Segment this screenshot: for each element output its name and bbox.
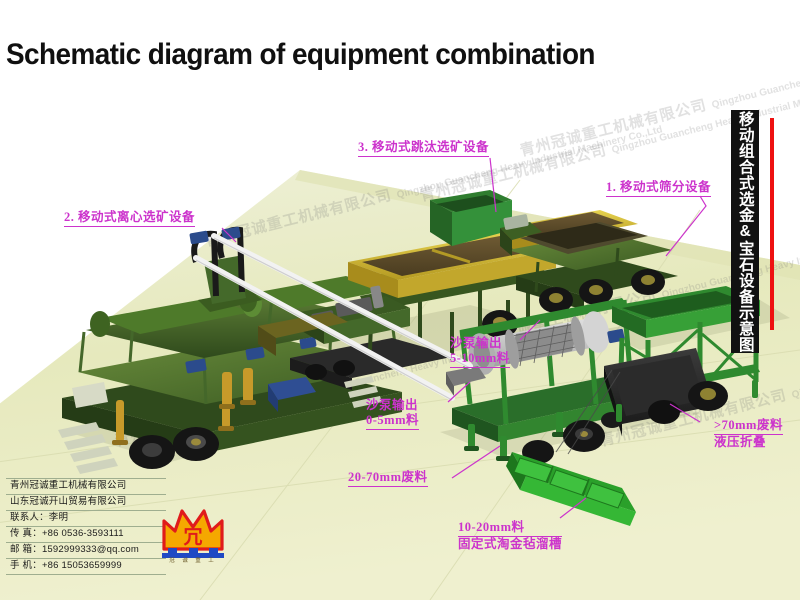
contact-row-person: 联系人：李明 xyxy=(6,511,166,527)
contact-row-company-2: 山东冠诚开山贸易有限公司 xyxy=(6,495,166,511)
callout-sluice-10-20-label: 10-20mm料 固定式淘金毡溜槽 xyxy=(458,520,562,552)
contact-row-company-1: 青州冠诚重工机械有限公司 xyxy=(6,479,166,495)
callout-3-label: 3. 移动式跳汰选矿设备 xyxy=(358,140,489,157)
equipment-fixed-sluice xyxy=(506,452,636,526)
contact-row-fax: 传 真：+86 0536-3593111 xyxy=(6,527,166,543)
contact-row-email: 邮 箱：1592999333@qq.com xyxy=(6,543,166,559)
schematic-canvas: Schematic diagram of equipment combinati… xyxy=(0,0,800,600)
callout-2-label: 2. 移动式离心选矿设备 xyxy=(64,210,195,227)
crown-logo-caption: 冠 诚 重 工 xyxy=(160,556,226,564)
vertical-banner-text: 移动组合式选金&宝石设备示意图 xyxy=(737,111,753,353)
crown-logo-monogram: 冗 xyxy=(183,527,202,548)
callout-sand-pump-5-10-label: 沙泵输出 5-10mm料 xyxy=(450,336,510,368)
contact-row-mobile: 手 机：+86 15053659999 xyxy=(6,559,166,575)
contact-card: 青州冠诚重工机械有限公司 山东冠诚开山贸易有限公司 联系人：李明 传 真：+86… xyxy=(6,478,166,575)
callout-waste-20-70-label: 20-70mm废料 xyxy=(348,470,428,487)
callout-1-label: 1. 移动式筛分设备 xyxy=(606,180,711,197)
callout-sand-pump-0-5-label: 沙泵输出 0-5mm料 xyxy=(366,398,419,430)
vertical-banner: 移动组合式选金&宝石设备示意图 xyxy=(731,110,759,353)
callout-waste-70-plus-label: >70mm废料 液压折叠 xyxy=(714,418,783,450)
banner-accent-rule xyxy=(770,118,774,330)
